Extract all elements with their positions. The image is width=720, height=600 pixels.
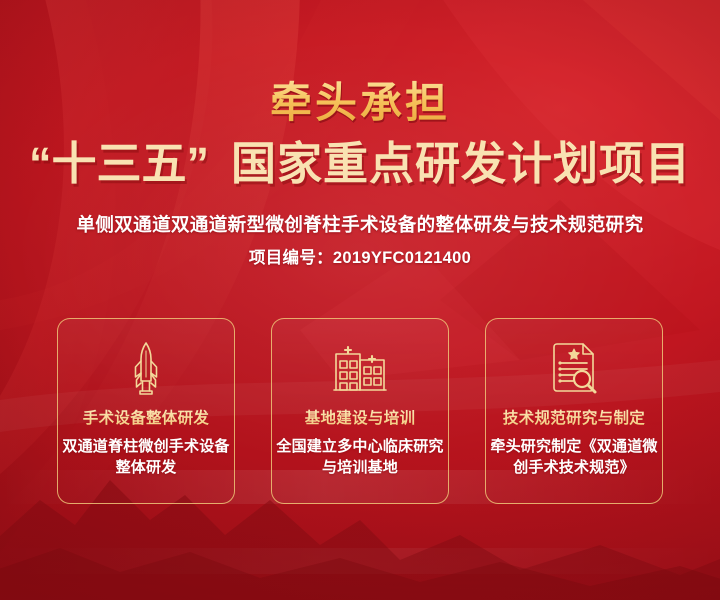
feature-card-body: 双通道脊柱微创手术设备整体研发 <box>62 436 230 478</box>
feature-card-list: 手术设备整体研发 双通道脊柱微创手术设备整体研发 <box>57 318 663 504</box>
title-rest-part: 国家重点研发计划项目 <box>231 138 691 189</box>
title-quoted-part: “十三五” <box>29 138 209 189</box>
project-subtitle: 单侧双通道双通道新型微创脊柱手术设备的整体研发与技术规范研究 <box>0 212 720 238</box>
feature-card-title: 基地建设与培训 <box>305 409 416 429</box>
document-magnifier-icon <box>549 341 599 397</box>
feature-card-title: 技术规范研究与制定 <box>503 409 645 429</box>
feature-card-base-training[interactable]: 基地建设与培训 全国建立多中心临床研究与培训基地 <box>271 318 449 504</box>
kicker-text: 牵头承担 <box>0 78 720 128</box>
feature-card-body: 牵头研究制定《双通道微创手术技术规范》 <box>490 436 658 478</box>
feature-card-title: 手术设备整体研发 <box>83 409 209 429</box>
feature-card-technical-standard[interactable]: 技术规范研究与制定 牵头研究制定《双通道微创手术技术规范》 <box>485 318 663 504</box>
feature-card-body: 全国建立多中心临床研究与培训基地 <box>276 436 444 478</box>
project-number: 项目编号：2019YFC0121400 <box>0 246 720 270</box>
feature-card-equipment-rnd[interactable]: 手术设备整体研发 双通道脊柱微创手术设备整体研发 <box>57 318 235 504</box>
poster-banner: 牵头承担 “十三五”国家重点研发计划项目 单侧双通道双通道新型微创脊柱手术设备的… <box>0 0 720 600</box>
rocket-icon <box>126 341 166 397</box>
page-title: “十三五”国家重点研发计划项目 <box>0 136 720 192</box>
hospital-building-icon <box>333 341 387 397</box>
